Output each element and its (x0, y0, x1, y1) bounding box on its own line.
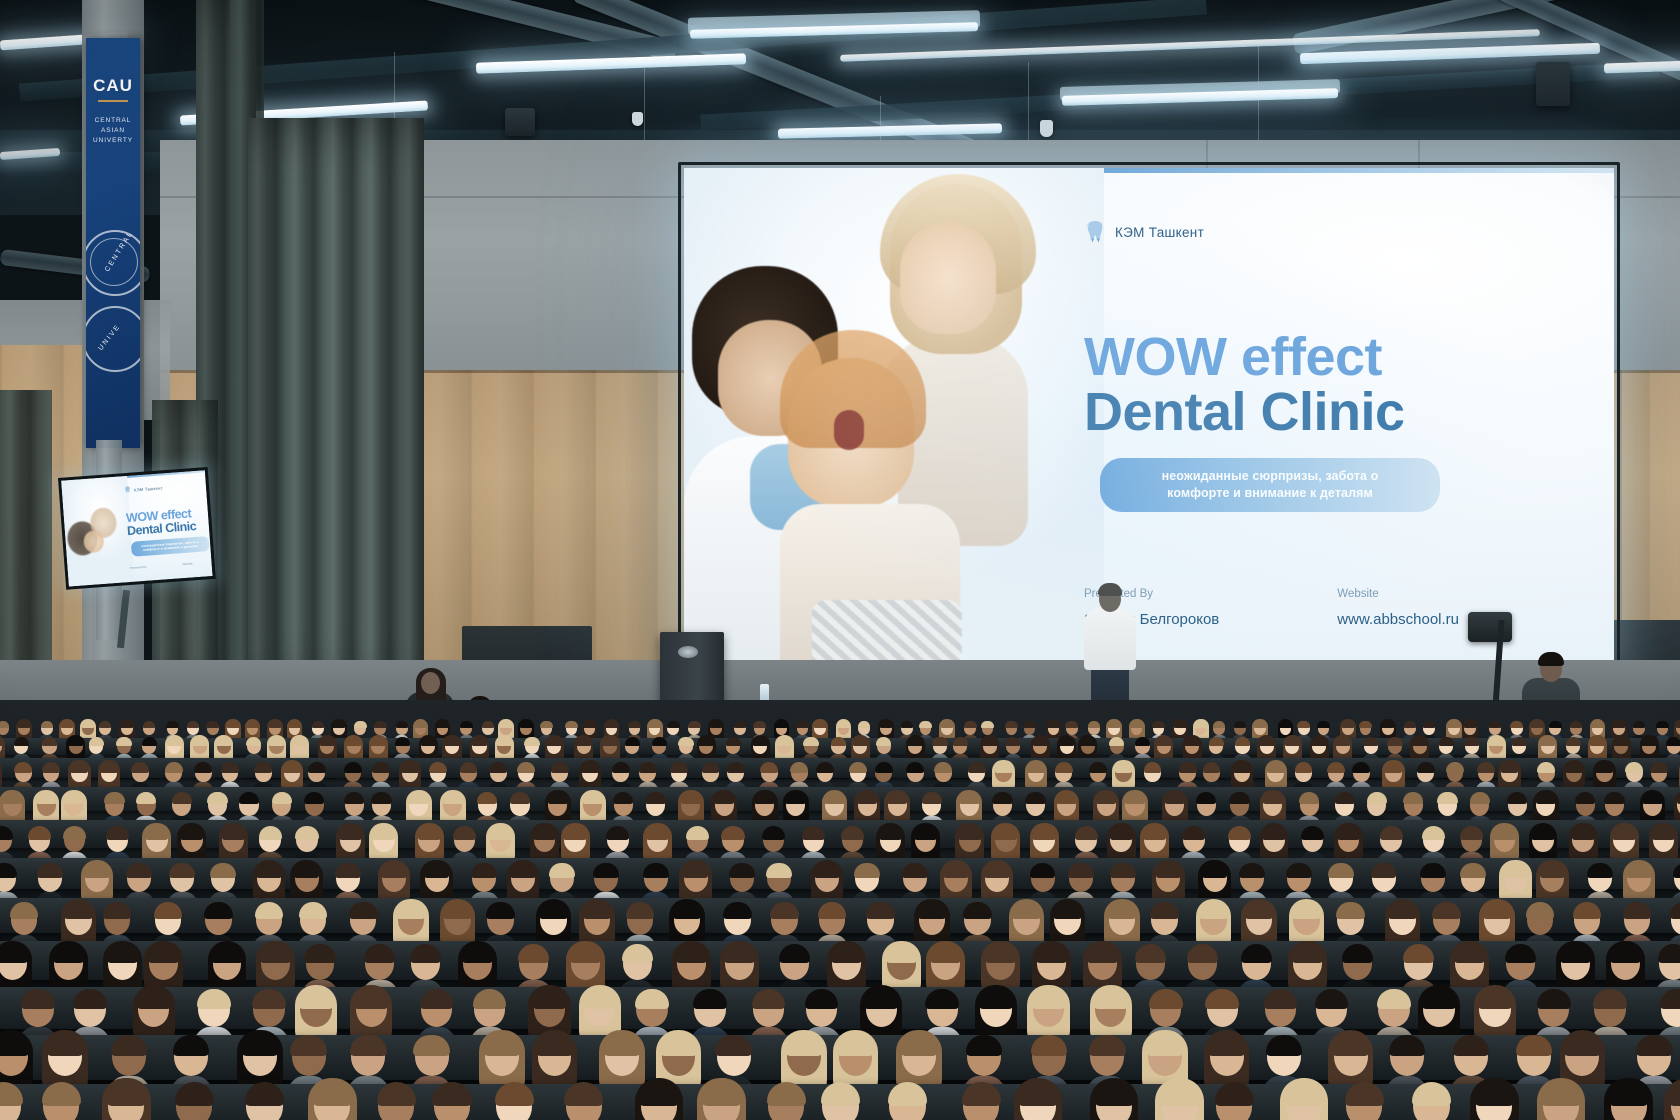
audience-hair (472, 737, 487, 746)
audience-hair (1510, 721, 1523, 729)
audience-hair (192, 737, 207, 746)
audience-hair (1135, 737, 1150, 746)
audience-hair (1464, 721, 1477, 729)
audience-hair (1489, 721, 1502, 729)
audience-hair (1199, 902, 1227, 919)
auxiliary-monitor: КЭМ Ташкент WOW effect Dental Clinic нео… (58, 467, 216, 590)
audience-hair (1235, 737, 1250, 746)
audience-hair (482, 721, 495, 729)
audience-hair (1403, 792, 1424, 804)
audience-hair (932, 737, 947, 746)
audience-area (0, 700, 1680, 1120)
audience-hair (1110, 826, 1133, 840)
mini-brand-name: КЭМ Ташкент (134, 485, 163, 492)
audience-hair (166, 721, 179, 729)
audience-hair (1328, 863, 1354, 878)
audience-hair (1337, 826, 1360, 840)
audience-hair (1420, 863, 1446, 878)
audience-hair (520, 721, 533, 729)
audience-hair (1150, 902, 1178, 919)
audience-hair (678, 737, 693, 746)
audience-hair (18, 721, 31, 729)
audience-hair (1174, 721, 1187, 729)
presenter-hair (1098, 583, 1122, 596)
audience-hair (1285, 737, 1300, 746)
audience-hair (1507, 792, 1528, 804)
audience-hair (269, 737, 284, 746)
audience-hair (854, 863, 880, 878)
audience-hair (1380, 826, 1403, 840)
audience-hair (89, 737, 104, 746)
audience-hair (1156, 737, 1171, 746)
audience-hair (500, 721, 513, 729)
audience-hair (901, 721, 914, 729)
audience-hair (1590, 737, 1605, 746)
audience-hair (207, 792, 228, 804)
mini-subtitle-banner: неожиданные сюрпризы, забота о комфорте … (131, 536, 210, 556)
audience-hair (486, 902, 514, 919)
audience-hair (510, 792, 531, 804)
audience-hair (886, 944, 917, 963)
video-camera (1468, 612, 1512, 642)
presenter-badge (1103, 630, 1110, 640)
audience-hair (1025, 792, 1046, 804)
audience-hair (1359, 721, 1372, 729)
audience-hair (652, 737, 667, 746)
audience-hair (726, 737, 741, 746)
audience-hair (1108, 902, 1136, 919)
audience-hair (1423, 721, 1436, 729)
audience-hair (1075, 826, 1098, 840)
audience-hair (429, 762, 447, 773)
audience-hair (1080, 737, 1095, 746)
audience-hair (61, 721, 74, 729)
audience-hair (563, 826, 586, 840)
audience-hair (497, 737, 512, 746)
audience-hair (1565, 762, 1583, 773)
audience-hair (1279, 721, 1292, 729)
audience-hair (549, 863, 575, 878)
audience-hair (204, 902, 232, 919)
audience-hair (583, 902, 611, 919)
audience-hair (1531, 721, 1544, 729)
audience-hair (753, 721, 766, 729)
audience-hair (880, 721, 893, 729)
audience-hair (1388, 902, 1416, 919)
audience-hair (395, 737, 410, 746)
audience-hair (1460, 863, 1486, 878)
audience-hair (941, 721, 954, 729)
audience-hair (546, 737, 561, 746)
audience-hair (1110, 863, 1136, 878)
audience-hair (1483, 902, 1511, 919)
audience-hair (648, 721, 661, 729)
audience-hair (639, 762, 657, 773)
audience-hair (1549, 721, 1562, 729)
audience-hair (1005, 737, 1020, 746)
audience-hair (1531, 826, 1554, 840)
audience-hair (370, 737, 385, 746)
podium-emblem-icon (678, 646, 698, 658)
audience-hair (1152, 721, 1165, 729)
audience-hair (443, 792, 464, 804)
audience-hair (964, 721, 977, 729)
audience-hair (320, 737, 335, 746)
audience-hair (1470, 792, 1491, 804)
audience-hair (796, 721, 809, 729)
audience-hair (681, 792, 702, 804)
audience-hair (643, 863, 669, 878)
audience-hair (670, 762, 688, 773)
audience-hair (958, 826, 981, 840)
audience-hair (349, 902, 377, 919)
audience-hair (1203, 762, 1221, 773)
audience-hair (824, 792, 845, 804)
audience-hair (714, 792, 735, 804)
audience-hair (1053, 902, 1081, 919)
cau-banner: CAU CENTRAL ASIAN UNIVERTY CENTRAL UNIVE (86, 38, 140, 448)
audience-hair (221, 762, 239, 773)
audience-hair (777, 737, 792, 746)
audience-hair (1087, 944, 1118, 963)
audience-hair (1575, 792, 1596, 804)
audience-hair (436, 721, 449, 729)
audience-hair (374, 721, 387, 729)
audience-hair (1570, 721, 1583, 729)
audience-hair (1259, 737, 1274, 746)
audience-hair (1297, 721, 1310, 729)
audience-hair (28, 826, 51, 840)
audience-hair (1036, 944, 1067, 963)
audience-hair (1604, 792, 1625, 804)
audience-hair (1213, 721, 1226, 729)
audience-hair (299, 902, 327, 919)
audience-hair (1666, 737, 1680, 746)
audience-hair (1241, 944, 1272, 963)
audience-hair (1573, 902, 1601, 919)
audience-hair (1245, 902, 1273, 919)
cameraman-hair (1538, 652, 1564, 666)
audience-hair (1327, 762, 1345, 773)
audience-hair (1526, 902, 1554, 919)
audience-hair (576, 737, 591, 746)
audience-hair (84, 863, 110, 878)
audience-hair (143, 721, 156, 729)
audience-hair (1572, 826, 1595, 840)
audience-hair (723, 902, 751, 919)
audience-hair (1027, 762, 1045, 773)
audience-hair (551, 762, 569, 773)
audience-hair (775, 721, 788, 729)
audience-hair (1032, 826, 1055, 840)
audience-hair (803, 737, 818, 746)
audience-hair (1125, 792, 1146, 804)
mini-slide: КЭМ Ташкент WOW effect Dental Clinic нео… (61, 470, 212, 586)
cau-banner-line2: ASIAN (86, 126, 140, 135)
audience-hair (172, 792, 193, 804)
audience-hair (1059, 737, 1074, 746)
tooth-icon (124, 486, 132, 494)
audience-hair (770, 902, 798, 919)
audience-hair (1656, 721, 1669, 729)
ceiling-camera-icon (1040, 120, 1053, 137)
audience-hair (876, 737, 891, 746)
audience-hair (432, 1082, 471, 1105)
audience-hair (995, 762, 1013, 773)
audience-hair (565, 721, 578, 729)
audience-hair (785, 792, 806, 804)
audience-hair (814, 721, 827, 729)
audience-hair (1108, 721, 1121, 729)
audience-hair (1612, 826, 1635, 840)
audience-hair (1591, 721, 1604, 729)
audience-hair (802, 826, 825, 840)
audience-hair (64, 792, 85, 804)
audience-hair (760, 762, 778, 773)
podium (660, 632, 724, 706)
audience-hair (625, 737, 640, 746)
audience-hair (583, 792, 604, 804)
audience-hair (1292, 902, 1320, 919)
audience-hair (1056, 792, 1077, 804)
audience-hair (1676, 721, 1680, 729)
audience-hair (1633, 721, 1646, 729)
audience-hair (312, 721, 325, 729)
audience-hair (256, 863, 282, 878)
audience-hair (626, 902, 654, 919)
audience-hair (42, 762, 60, 773)
audience-hair (992, 792, 1013, 804)
audience-hair (100, 762, 118, 773)
audience-hair (1404, 721, 1417, 729)
audience-hair (489, 826, 512, 840)
cau-banner-line1: CENTRAL (86, 116, 140, 125)
audience-hair (887, 792, 908, 804)
audience-hair (165, 762, 183, 773)
cau-banner-line3: UNIVERTY (86, 136, 140, 145)
audience-hair (645, 792, 666, 804)
audience-hair (1489, 737, 1504, 746)
audience-hair (246, 737, 261, 746)
audience-hair (1432, 902, 1460, 919)
audience-hair (1412, 737, 1427, 746)
audience-hair (981, 721, 994, 729)
audience-hair (710, 721, 723, 729)
audience-hair (272, 792, 293, 804)
audience-hair (401, 762, 419, 773)
audience-hair (167, 737, 182, 746)
presenter-body (1084, 608, 1136, 670)
audience-hair (1447, 721, 1460, 729)
audience-hair (1367, 792, 1388, 804)
audience-hair (857, 792, 878, 804)
audience-hair (673, 902, 701, 919)
audience-hair (1012, 902, 1040, 919)
audience-hair (1512, 737, 1527, 746)
audience-hair (1650, 762, 1668, 773)
audience-hair (790, 762, 808, 773)
audience-hair (99, 721, 112, 729)
audience-hair (42, 737, 57, 746)
audience-hair (984, 863, 1010, 878)
audience-hair (1068, 863, 1094, 878)
conference-hall-scene: CAU CENTRAL ASIAN UNIVERTY CENTRAL UNIVE (0, 0, 1680, 1120)
audience-hair (628, 721, 641, 729)
audience-hair (734, 721, 747, 729)
audience-hair (460, 721, 473, 729)
audience-hair (1446, 762, 1464, 773)
audience-hair (1055, 762, 1073, 773)
audience-hair (837, 721, 850, 729)
audience-hair (1179, 762, 1197, 773)
ceiling-speaker (505, 108, 535, 136)
audience-hair (953, 737, 968, 746)
cau-logo-text: CAU (86, 76, 140, 96)
audience-hair (866, 902, 894, 919)
audience-hair (968, 762, 986, 773)
curtain (248, 118, 424, 698)
audience-hair (1184, 737, 1199, 746)
audience-hair (206, 721, 219, 729)
audience-hair (570, 944, 601, 963)
audience-hair (1194, 721, 1207, 729)
audience-hair (667, 721, 680, 729)
audience-hair (622, 944, 653, 963)
cau-seal-icon-2 (86, 306, 140, 372)
audience-hair (1229, 792, 1250, 804)
audience-hair (727, 762, 745, 773)
audience-hair (639, 1082, 678, 1105)
audience-hair (853, 737, 868, 746)
audience-hair (1387, 737, 1402, 746)
audience-hair (295, 826, 318, 840)
audience-hair (254, 762, 272, 773)
audience-hair (14, 737, 29, 746)
audience-hair (1096, 792, 1117, 804)
audience-hair (1023, 721, 1036, 729)
audience-hair (1342, 721, 1355, 729)
audience-hair (1286, 863, 1312, 878)
audience-hair (36, 792, 57, 804)
audience-hair (103, 902, 131, 919)
audience-hair (858, 721, 871, 729)
audience-hair (581, 762, 599, 773)
audience-hair (1537, 762, 1555, 773)
audience-hair (1381, 721, 1394, 729)
audience-hair (154, 902, 182, 919)
audience-hair (116, 737, 131, 746)
audience-hair (1299, 792, 1320, 804)
audience-hair (959, 792, 980, 804)
audience-hair (1540, 737, 1555, 746)
audience-hair (1317, 721, 1330, 729)
audience-hair (308, 762, 326, 773)
audience-hair (753, 737, 768, 746)
audience-hair (408, 792, 429, 804)
audience-hair (136, 792, 157, 804)
audience-hair (462, 944, 493, 963)
audience-hair (444, 737, 459, 746)
ceiling-speaker (1536, 62, 1570, 106)
audience-hair (1464, 737, 1479, 746)
audience-hair (1439, 737, 1454, 746)
audience-hair (443, 902, 471, 919)
audience-hair (64, 902, 92, 919)
audience-hair (814, 863, 840, 878)
mini-brand-row: КЭМ Ташкент (124, 483, 163, 494)
audience-hair (211, 944, 242, 963)
audience-hair (1437, 792, 1458, 804)
audience-hair (346, 737, 361, 746)
audience-hair (1612, 721, 1625, 729)
audience-hair (548, 792, 569, 804)
audience-hair (418, 826, 441, 840)
audience-hair (371, 792, 392, 804)
audience-hair (1613, 737, 1628, 746)
audience-hair (963, 902, 991, 919)
audience-hair (1033, 737, 1048, 746)
audience-hair (82, 721, 95, 729)
ceiling-camera-icon (632, 112, 643, 126)
audience-hair (1005, 721, 1018, 729)
audience-hair (104, 792, 125, 804)
audience-hair (1335, 737, 1350, 746)
mini-website-label: Website (182, 560, 211, 566)
audience-hair (1065, 721, 1078, 729)
audience-hair (246, 721, 259, 729)
audience-hair (396, 721, 409, 729)
audience-hair (688, 721, 701, 729)
audience-hair (754, 792, 775, 804)
mini-title-line2: Dental Clinic (127, 520, 197, 538)
banner-accent-rule (98, 100, 128, 102)
audience-hair (676, 944, 707, 963)
audience-hair (922, 792, 943, 804)
audience-hair (41, 721, 54, 729)
moderator-head (421, 672, 440, 694)
audience-hair (1109, 737, 1124, 746)
audience-hair (414, 721, 427, 729)
audience-hair (107, 944, 138, 963)
audience-hair (1187, 944, 1218, 963)
audience-hair (354, 721, 367, 729)
audience-hair (1196, 792, 1217, 804)
audience-hair (1641, 737, 1656, 746)
audience-hair (304, 944, 335, 963)
audience-hair (1165, 792, 1186, 804)
audience-hair (131, 762, 149, 773)
audience-hair (288, 721, 301, 729)
audience-hair (1417, 762, 1435, 773)
audience-hair (14, 762, 32, 773)
audience-hair (918, 902, 946, 919)
audience-hair (1130, 721, 1143, 729)
audience-hair (227, 721, 240, 729)
audience-hair (540, 721, 553, 729)
audience-hair (1311, 737, 1326, 746)
audience-hair (1144, 762, 1162, 773)
audience-hair (985, 944, 1016, 963)
audience-hair (1262, 826, 1285, 840)
audience-hair (396, 902, 424, 919)
audience-hair (907, 737, 922, 746)
screen-frame (678, 162, 1620, 684)
audience-hair (239, 792, 260, 804)
audience-hair (1233, 762, 1251, 773)
audience-hair (187, 721, 200, 729)
audience-hair (919, 721, 932, 729)
audience-hair (982, 737, 997, 746)
